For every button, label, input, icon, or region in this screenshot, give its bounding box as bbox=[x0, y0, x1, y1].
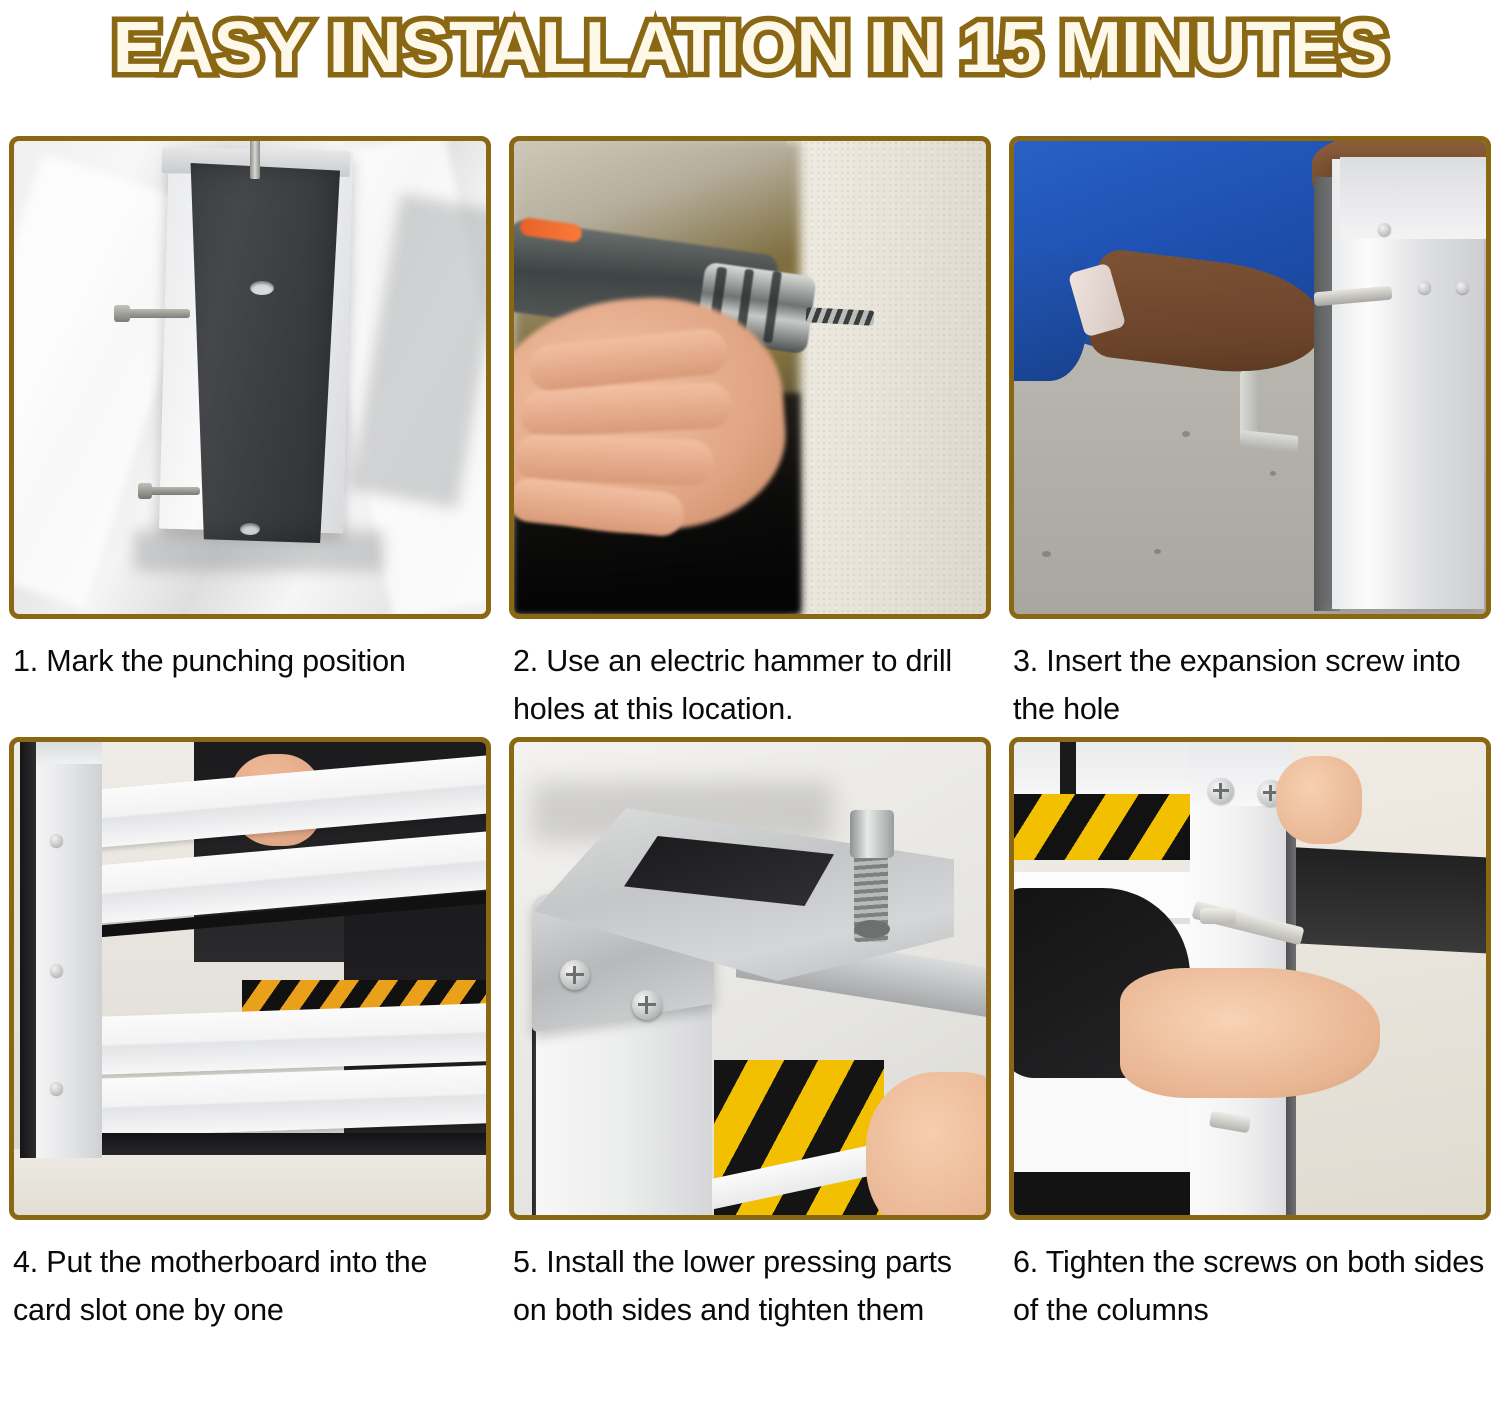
step-caption-3: 3. Insert the expansion screw into the h… bbox=[1009, 619, 1491, 737]
installation-steps-grid: 1. Mark the punching position bbox=[0, 136, 1500, 1358]
step-card-2: 2. Use an electric hammer to drill holes… bbox=[500, 136, 1000, 737]
step-caption-4: 4. Put the motherboard into the card slo… bbox=[9, 1220, 491, 1358]
page-title: EASY INSTALLATION IN 15 MINUTES bbox=[113, 10, 1387, 86]
step-caption-6: 6. Tighten the screws on both sides of t… bbox=[1009, 1220, 1491, 1358]
step-card-1: 1. Mark the punching position bbox=[0, 136, 500, 737]
step-photo-1 bbox=[14, 141, 486, 614]
step-caption-5: 5. Install the lower pressing parts on b… bbox=[509, 1220, 991, 1358]
step-photo-6 bbox=[1014, 742, 1486, 1215]
header-banner: EASY INSTALLATION IN 15 MINUTES bbox=[0, 0, 1500, 96]
step-photo-frame-4 bbox=[9, 737, 491, 1220]
step-caption-2: 2. Use an electric hammer to drill holes… bbox=[509, 619, 991, 737]
step-card-6: 6. Tighten the screws on both sides of t… bbox=[1000, 737, 1500, 1358]
steps-row-bottom: 4. Put the motherboard into the card slo… bbox=[0, 737, 1500, 1358]
step-caption-1: 1. Mark the punching position bbox=[9, 619, 491, 737]
step-card-5: 5. Install the lower pressing parts on b… bbox=[500, 737, 1000, 1358]
phillips-screw-icon bbox=[560, 960, 590, 990]
step-photo-frame-3 bbox=[1009, 136, 1491, 619]
step-photo-frame-2 bbox=[509, 136, 991, 619]
step-photo-frame-5 bbox=[509, 737, 991, 1220]
step-photo-frame-1 bbox=[9, 136, 491, 619]
step-photo-2 bbox=[514, 141, 986, 614]
step-card-4: 4. Put the motherboard into the card slo… bbox=[0, 737, 500, 1358]
step-photo-4 bbox=[14, 742, 486, 1215]
step-photo-3 bbox=[1014, 141, 1486, 614]
step-card-3: 3. Insert the expansion screw into the h… bbox=[1000, 136, 1500, 737]
phillips-screw-icon bbox=[632, 990, 662, 1020]
step-photo-frame-6 bbox=[1009, 737, 1491, 1220]
steps-row-top: 1. Mark the punching position bbox=[0, 136, 1500, 737]
phillips-screw-icon bbox=[1208, 778, 1234, 804]
step-photo-5 bbox=[514, 742, 986, 1215]
